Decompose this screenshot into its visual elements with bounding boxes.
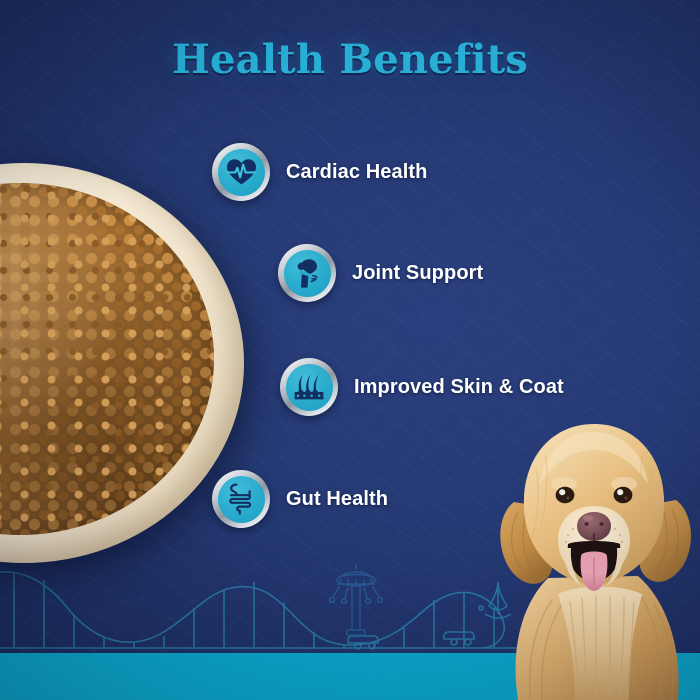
bowl-rim	[0, 163, 244, 563]
golden-retriever-photo	[478, 398, 700, 700]
benefit-label: Improved Skin & Coat	[354, 376, 564, 399]
health-benefits-poster: Health Benefits Cardiac Health	[0, 0, 700, 700]
page-title: Health Benefits	[0, 36, 700, 83]
intestine-icon	[218, 476, 265, 523]
benefit-badge	[212, 143, 270, 201]
benefit-item-joint-support[interactable]: Joint Support	[278, 244, 483, 302]
benefit-label: Joint Support	[352, 262, 483, 285]
benefit-badge	[280, 358, 338, 416]
heart-pulse-icon	[218, 149, 265, 196]
benefit-badge	[212, 470, 270, 528]
bone-joint-icon	[284, 250, 331, 297]
benefit-item-gut-health[interactable]: Gut Health	[212, 470, 388, 528]
benefit-badge	[278, 244, 336, 302]
benefit-item-cardiac-health[interactable]: Cardiac Health	[212, 143, 427, 201]
kibble-pile	[0, 183, 214, 535]
dog-food-bowl	[0, 163, 244, 563]
hair-follicle-skin-icon	[286, 364, 333, 411]
benefit-label: Gut Health	[286, 488, 388, 511]
benefit-label: Cardiac Health	[286, 161, 427, 184]
kibble-shading	[0, 183, 214, 535]
